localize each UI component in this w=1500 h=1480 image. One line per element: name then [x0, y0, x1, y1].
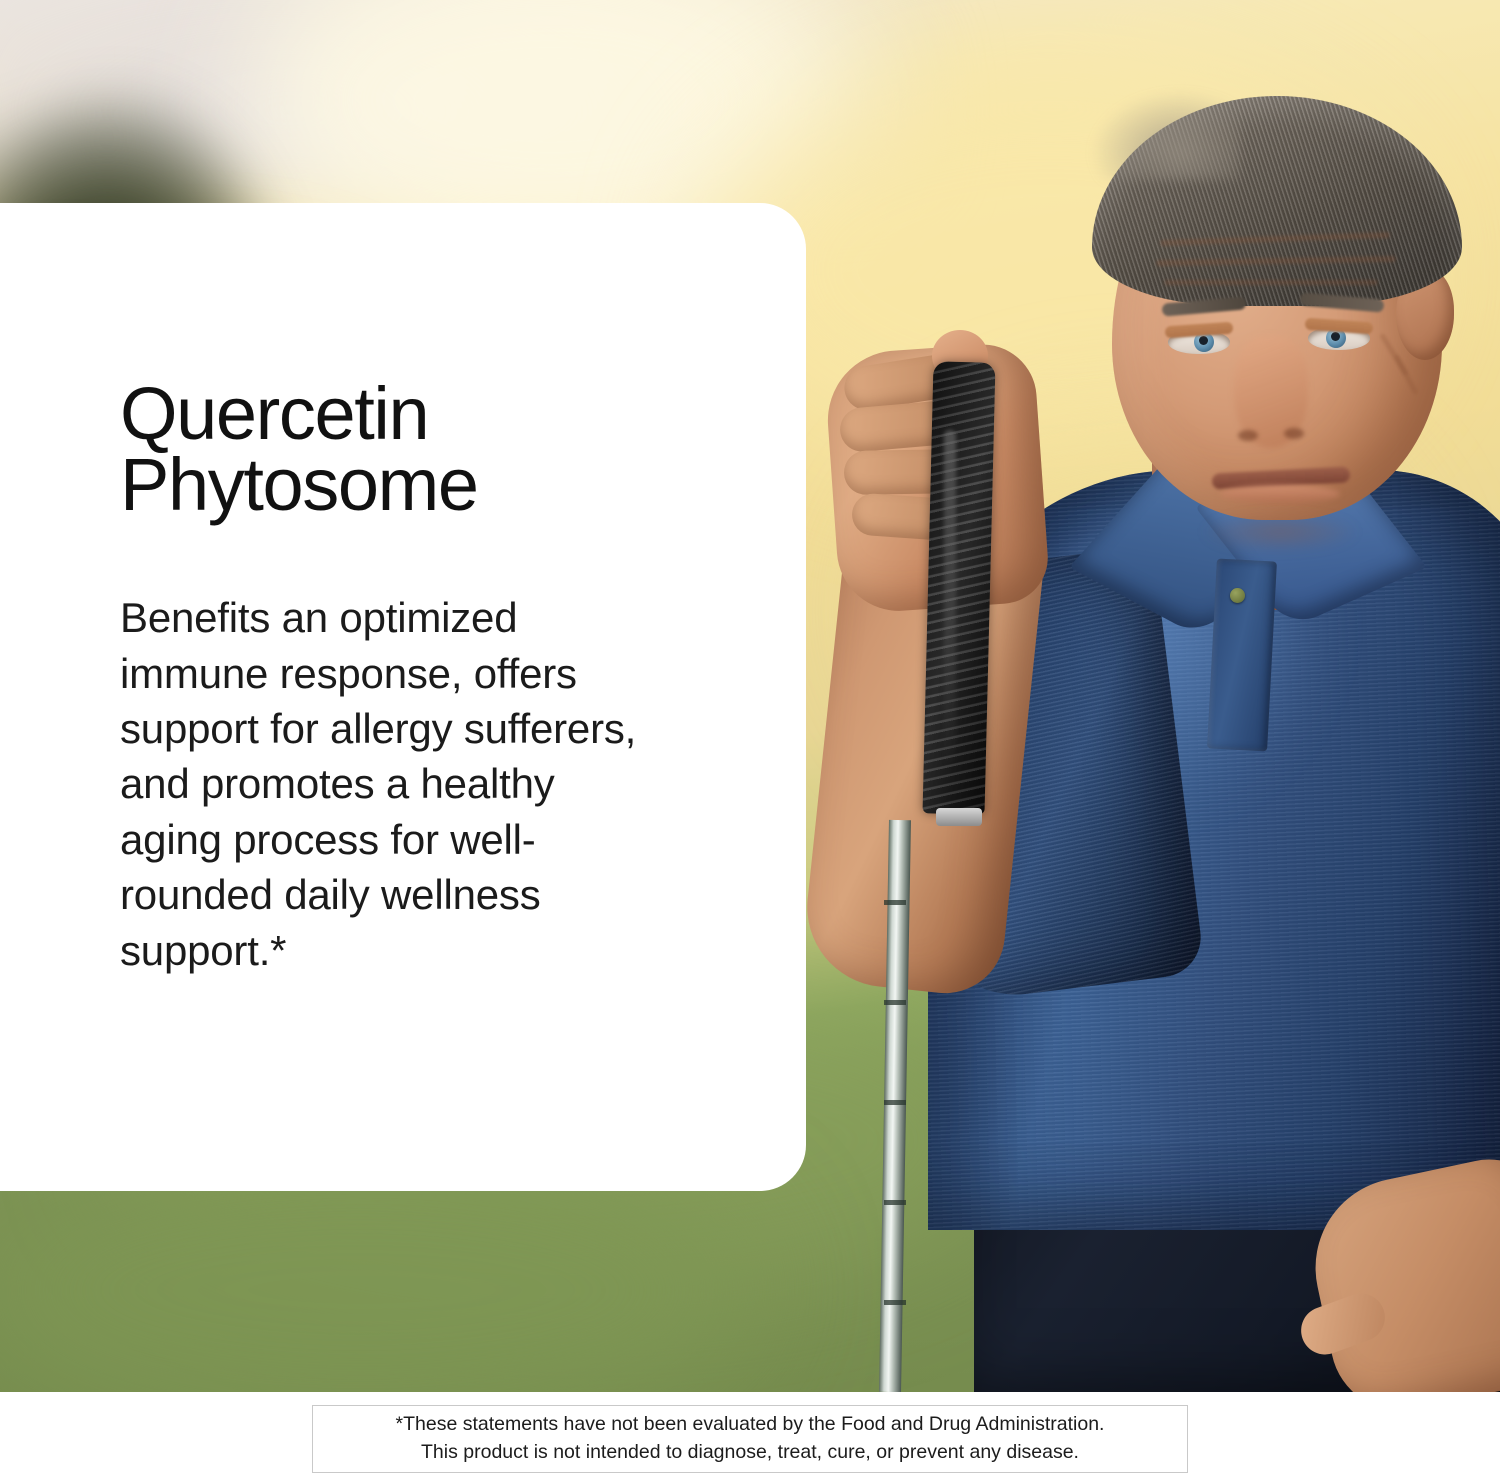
grip-ferrule	[936, 808, 982, 826]
shaft-band	[884, 1300, 906, 1305]
product-title: Quercetin Phytosome	[120, 378, 680, 520]
shaft-band	[884, 1000, 906, 1005]
forehead-wrinkle	[1164, 280, 1378, 285]
footer: *These statements have not been evaluate…	[0, 1392, 1500, 1480]
polo-placket	[1207, 559, 1277, 752]
grip-highlight	[944, 430, 956, 770]
golfer-subject	[760, 0, 1500, 1392]
golf-club-grip	[922, 361, 995, 814]
nostril-left	[1238, 430, 1258, 441]
polo-button	[1230, 588, 1245, 603]
disclaimer-line-1: *These statements have not been evaluate…	[396, 1411, 1105, 1439]
disclaimer-line-2: This product is not intended to diagnose…	[421, 1439, 1079, 1467]
shaft-band	[884, 1200, 906, 1205]
fda-disclaimer-box: *These statements have not been evaluate…	[312, 1405, 1188, 1473]
pupil	[1331, 332, 1340, 341]
product-description: Benefits an optimized immune response, o…	[120, 520, 640, 978]
card-content: Quercetin Phytosome Benefits an optimize…	[120, 378, 680, 978]
nostril-right	[1284, 428, 1304, 439]
chin-shadow	[1200, 512, 1360, 552]
product-info-card: Quercetin Phytosome Benefits an optimize…	[0, 203, 806, 1191]
hair-wisp	[1090, 90, 1240, 180]
shaft-band	[884, 900, 906, 905]
product-hero-screenshot: Quercetin Phytosome Benefits an optimize…	[0, 0, 1500, 1480]
pupil	[1199, 336, 1208, 345]
shaft-band	[884, 1100, 906, 1105]
lower-lip	[1220, 485, 1340, 503]
